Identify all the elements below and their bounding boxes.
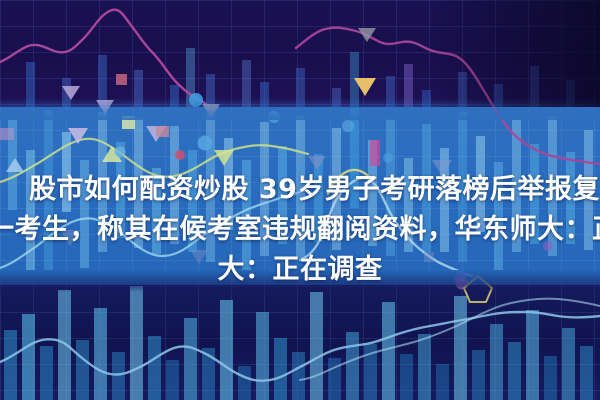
square-marker — [424, 252, 434, 262]
circle-marker — [383, 153, 393, 163]
circle-marker — [189, 93, 203, 107]
circle-marker — [115, 147, 126, 158]
square-marker — [122, 116, 135, 129]
circle-marker — [175, 150, 185, 160]
circle-marker — [268, 111, 280, 123]
square-marker — [370, 140, 380, 166]
circle-marker — [198, 136, 213, 151]
square-marker — [156, 126, 169, 137]
square-marker — [116, 74, 127, 85]
thumbnail-canvas: 股市如何配资炒股 39岁男子考研落榜后举报复 一考生，称其在候考室违规翻阅资料，… — [0, 0, 600, 400]
circle-marker — [454, 272, 466, 284]
square-marker — [0, 128, 14, 140]
financial-chart-artwork — [0, 0, 600, 400]
circle-marker — [342, 120, 354, 132]
circle-marker — [543, 241, 553, 251]
circle-marker — [263, 185, 273, 195]
